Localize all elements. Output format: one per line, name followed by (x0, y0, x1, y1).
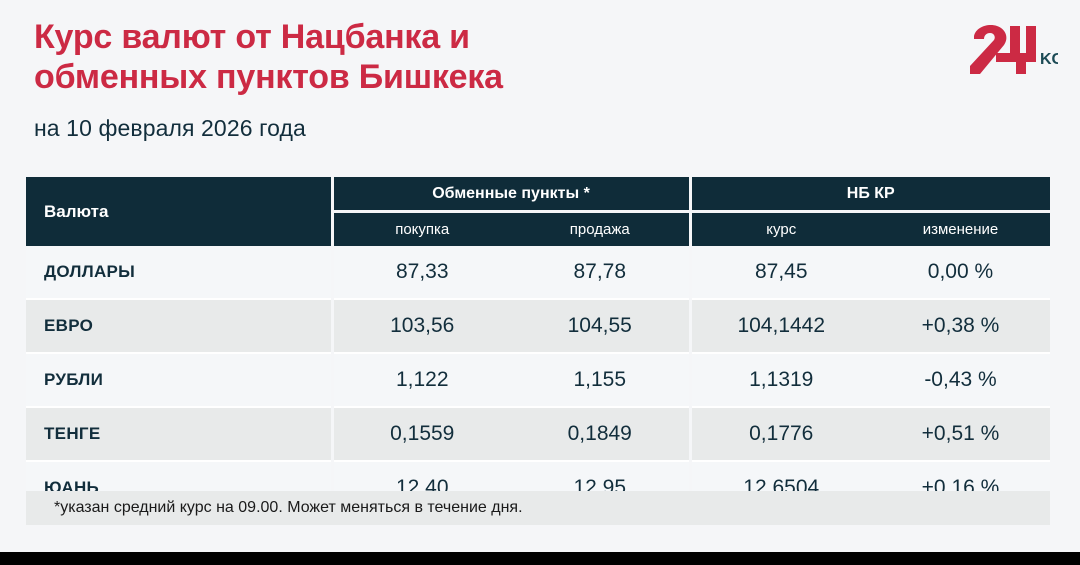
cell-change: +0,38 % (871, 299, 1050, 353)
page-subtitle: на 10 февраля 2026 года (34, 115, 974, 142)
cell-currency: ТЕНГЕ (26, 407, 332, 461)
cell-buy: 1,122 (332, 353, 511, 407)
cell-buy: 0,1559 (332, 407, 511, 461)
column-header-buy: покупка (332, 212, 511, 247)
cell-sell: 87,78 (511, 246, 690, 299)
page-title: Курс валют от Нацбанка и обменных пункто… (34, 18, 974, 98)
table-row: ТЕНГЕ 0,1559 0,1849 0,1776 +0,51 % (26, 407, 1050, 461)
column-group-national-bank: НБ КР (690, 177, 1050, 212)
cell-rate: 0,1776 (690, 407, 871, 461)
logo-mark: KG (966, 22, 1058, 78)
cell-currency: ДОЛЛАРЫ (26, 246, 332, 299)
infographic-page: Курс валют от Нацбанка и обменных пункто… (0, 0, 1080, 552)
table-row: ДОЛЛАРЫ 87,33 87,78 87,45 0,00 % (26, 246, 1050, 299)
table-row: РУБЛИ 1,122 1,155 1,1319 -0,43 % (26, 353, 1050, 407)
footnote-text: *указан средний курс на 09.00. Может мен… (26, 499, 523, 517)
footnote-band: *указан средний курс на 09.00. Может мен… (26, 491, 1050, 525)
table-body: ДОЛЛАРЫ 87,33 87,78 87,45 0,00 % ЕВРО 10… (26, 246, 1050, 514)
table-header: Валюта Обменные пункты * НБ КР покупка п… (26, 177, 1050, 246)
svg-text:KG: KG (1040, 51, 1058, 68)
cell-sell: 1,155 (511, 353, 690, 407)
cell-buy: 87,33 (332, 246, 511, 299)
cell-buy: 103,56 (332, 299, 511, 353)
cell-change: -0,43 % (871, 353, 1050, 407)
column-header-currency: Валюта (26, 177, 332, 246)
cell-rate: 87,45 (690, 246, 871, 299)
cell-rate: 104,1442 (690, 299, 871, 353)
cell-change: 0,00 % (871, 246, 1050, 299)
column-header-sell: продажа (511, 212, 690, 247)
rates-table-container: Валюта Обменные пункты * НБ КР покупка п… (26, 177, 1050, 514)
24kg-logo: KG (966, 22, 1058, 78)
header-block: Курс валют от Нацбанка и обменных пункто… (34, 18, 974, 142)
bottom-bar (0, 552, 1080, 565)
table-header-group-row: Валюта Обменные пункты * НБ КР (26, 177, 1050, 212)
column-header-change: изменение (871, 212, 1050, 247)
cell-sell: 104,55 (511, 299, 690, 353)
cell-change: +0,51 % (871, 407, 1050, 461)
table-row: ЕВРО 103,56 104,55 104,1442 +0,38 % (26, 299, 1050, 353)
cell-rate: 1,1319 (690, 353, 871, 407)
cell-sell: 0,1849 (511, 407, 690, 461)
cell-currency: РУБЛИ (26, 353, 332, 407)
cell-currency: ЕВРО (26, 299, 332, 353)
currency-rates-table: Валюта Обменные пункты * НБ КР покупка п… (26, 177, 1050, 514)
column-group-exchange-points: Обменные пункты * (332, 177, 690, 212)
column-header-rate: курс (690, 212, 871, 247)
